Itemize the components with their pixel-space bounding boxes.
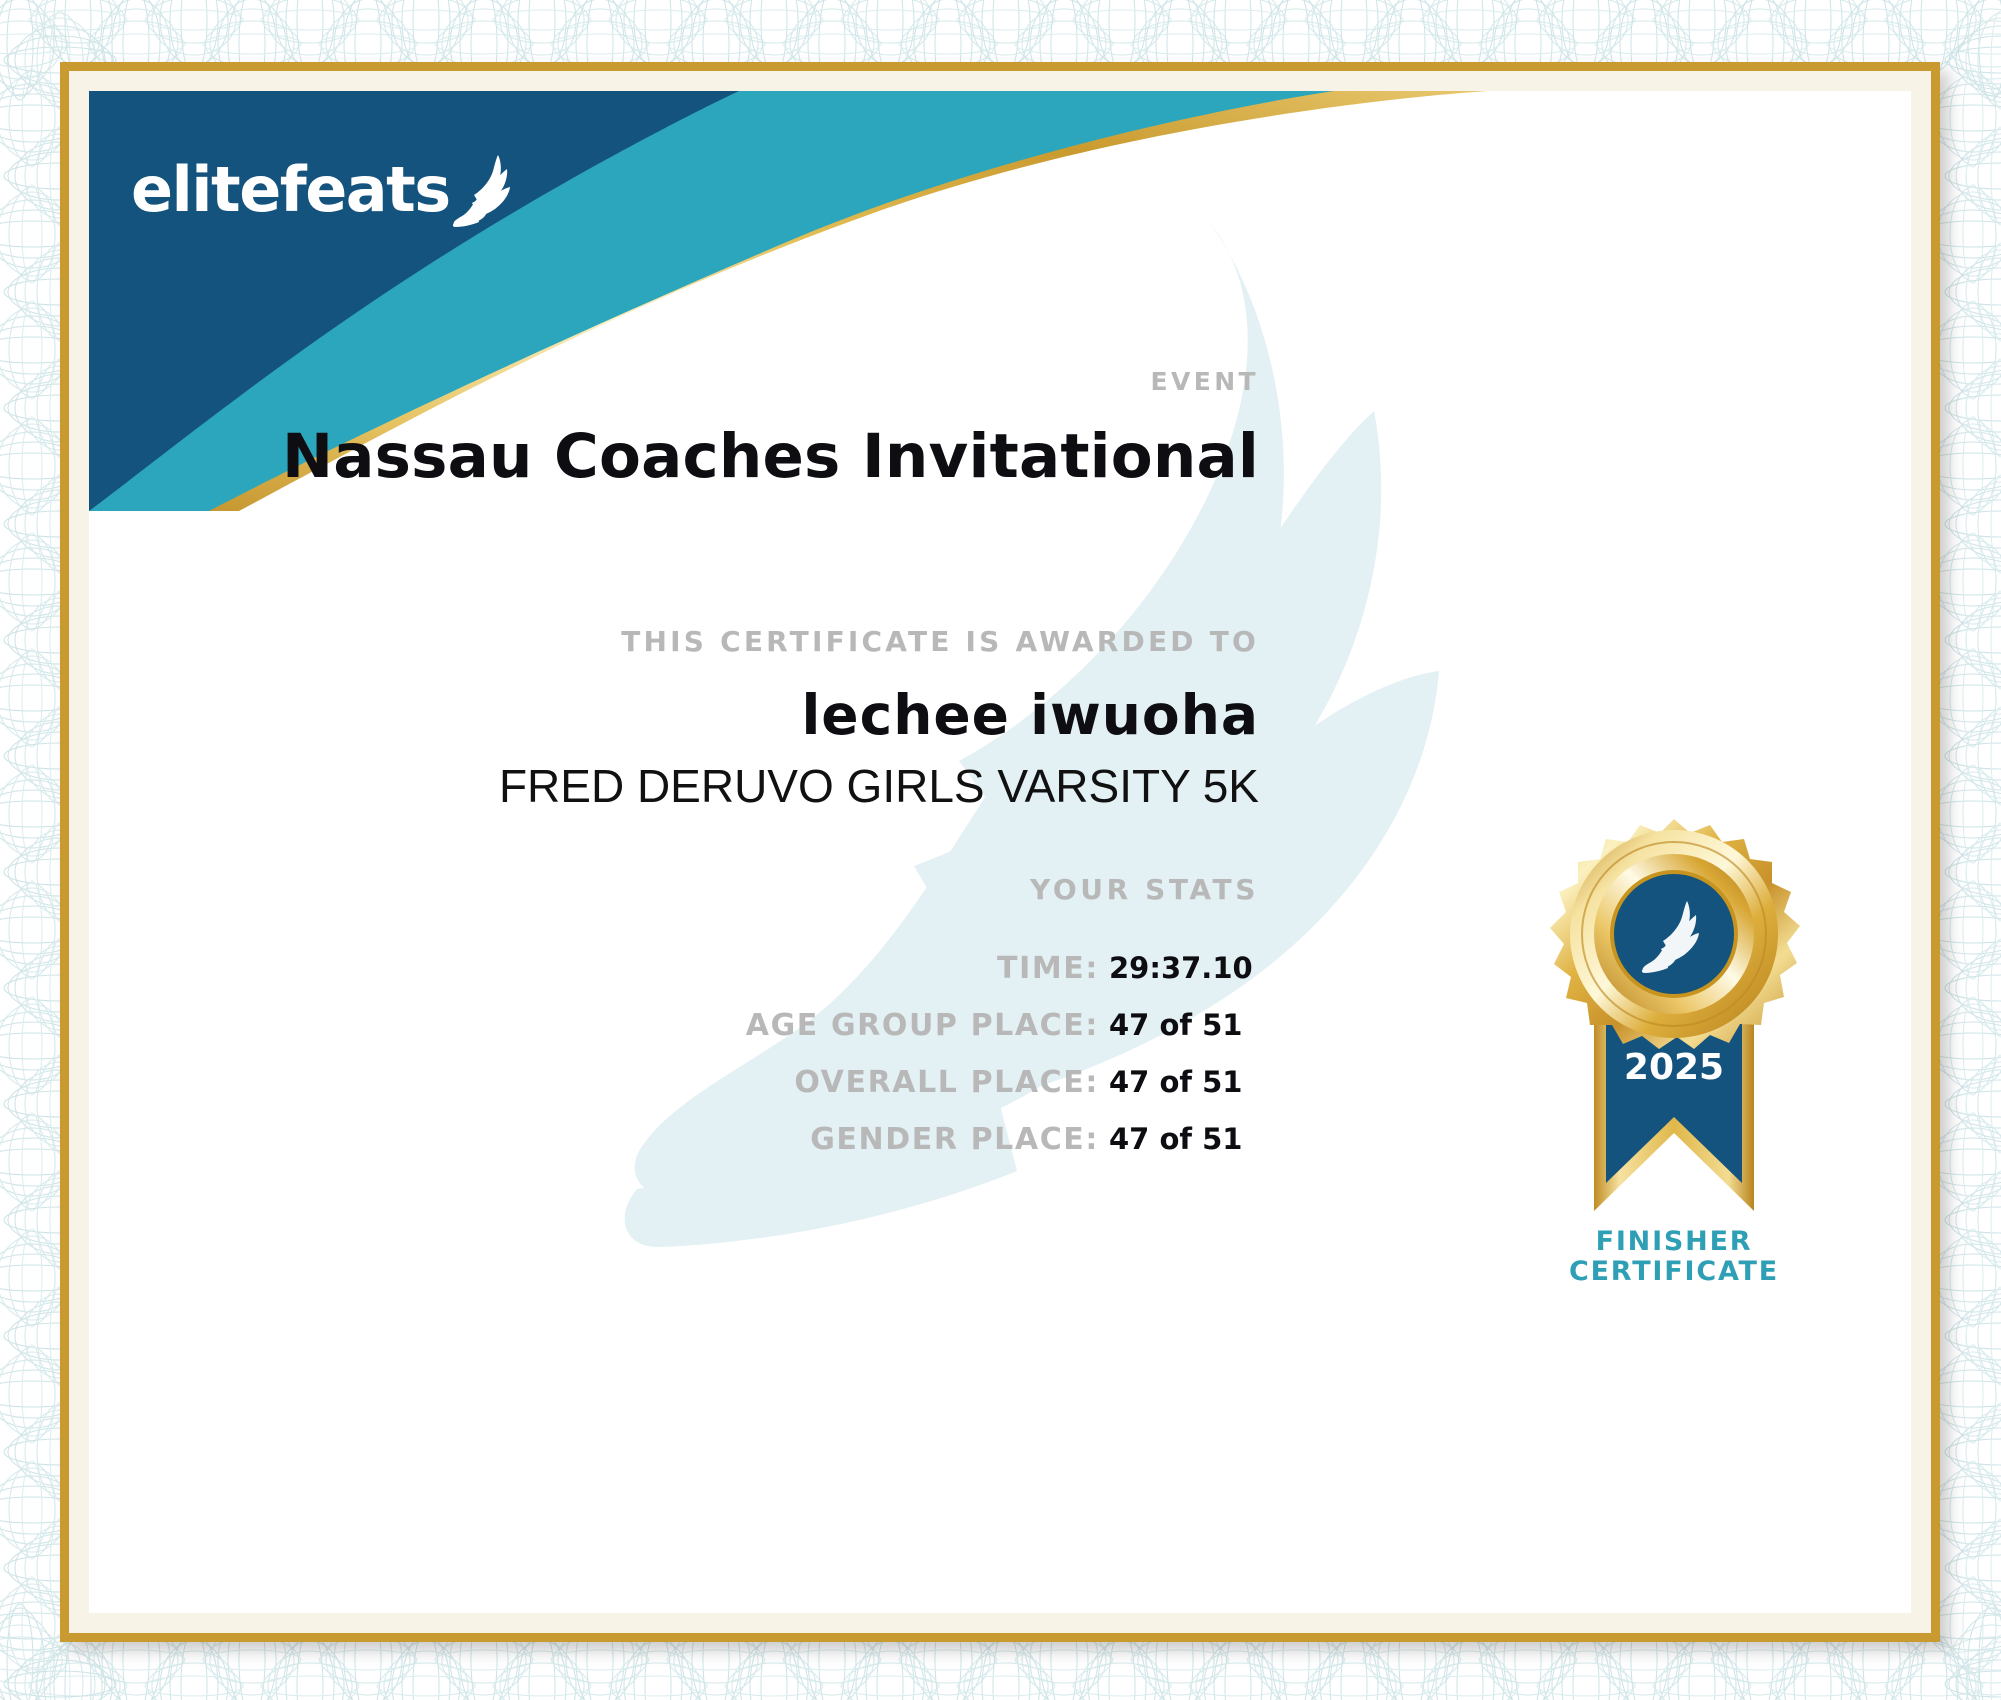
stat-label: AGE GROUP PLACE: [746, 1008, 1099, 1043]
stat-value: 47 of 51 [1109, 1122, 1259, 1156]
stat-row-age-group-place: AGE GROUP PLACE: 47 of 51 [89, 1008, 1259, 1065]
stat-label: OVERALL PLACE: [794, 1065, 1099, 1100]
awarded-to-label: THIS CERTIFICATE IS AWARDED TO [89, 625, 1259, 658]
medal-year: 2025 [1624, 1047, 1724, 1088]
stat-row-gender-place: GENDER PLACE: 47 of 51 [89, 1122, 1259, 1179]
certificate-body: elitefeats [89, 91, 1911, 1613]
stat-value: 47 of 51 [1109, 1008, 1259, 1042]
medal-caption-line1: FINISHER [1524, 1227, 1824, 1257]
race-name: FRED DERUVO GIRLS VARSITY 5K [89, 759, 1259, 813]
certificate-gold-frame: elitefeats [60, 62, 1940, 1642]
stat-value: 47 of 51 [1109, 1065, 1259, 1099]
medal-caption: FINISHER CERTIFICATE [1524, 1227, 1824, 1287]
stat-label: TIME: [997, 951, 1099, 986]
stat-row-time: TIME: 29:37.10 [89, 951, 1259, 1008]
event-name: Nassau Coaches Invitational [89, 421, 1259, 492]
stat-value: 29:37.10 [1109, 951, 1259, 985]
your-stats-label: YOUR STATS [89, 873, 1259, 906]
recipient-name: lechee iwuoha [89, 683, 1259, 747]
finisher-medal: 2025 FINISHER CERTIFICATE [1524, 811, 1824, 1287]
brand-name: elitefeats [131, 159, 450, 221]
medal-caption-line2: CERTIFICATE [1524, 1257, 1824, 1287]
stat-label: GENDER PLACE: [810, 1122, 1099, 1157]
certificate-inner-mat: elitefeats [69, 71, 1931, 1633]
event-label: EVENT [89, 367, 1259, 396]
stat-row-overall-place: OVERALL PLACE: 47 of 51 [89, 1065, 1259, 1122]
stats-list: TIME: 29:37.10 AGE GROUP PLACE: 47 of 51… [89, 951, 1259, 1179]
certificate-page: elitefeats [0, 0, 2001, 1700]
winged-foot-icon [452, 153, 514, 231]
medal-seal-icon: 2025 [1524, 811, 1824, 1231]
elitefeats-logo: elitefeats [131, 153, 514, 221]
